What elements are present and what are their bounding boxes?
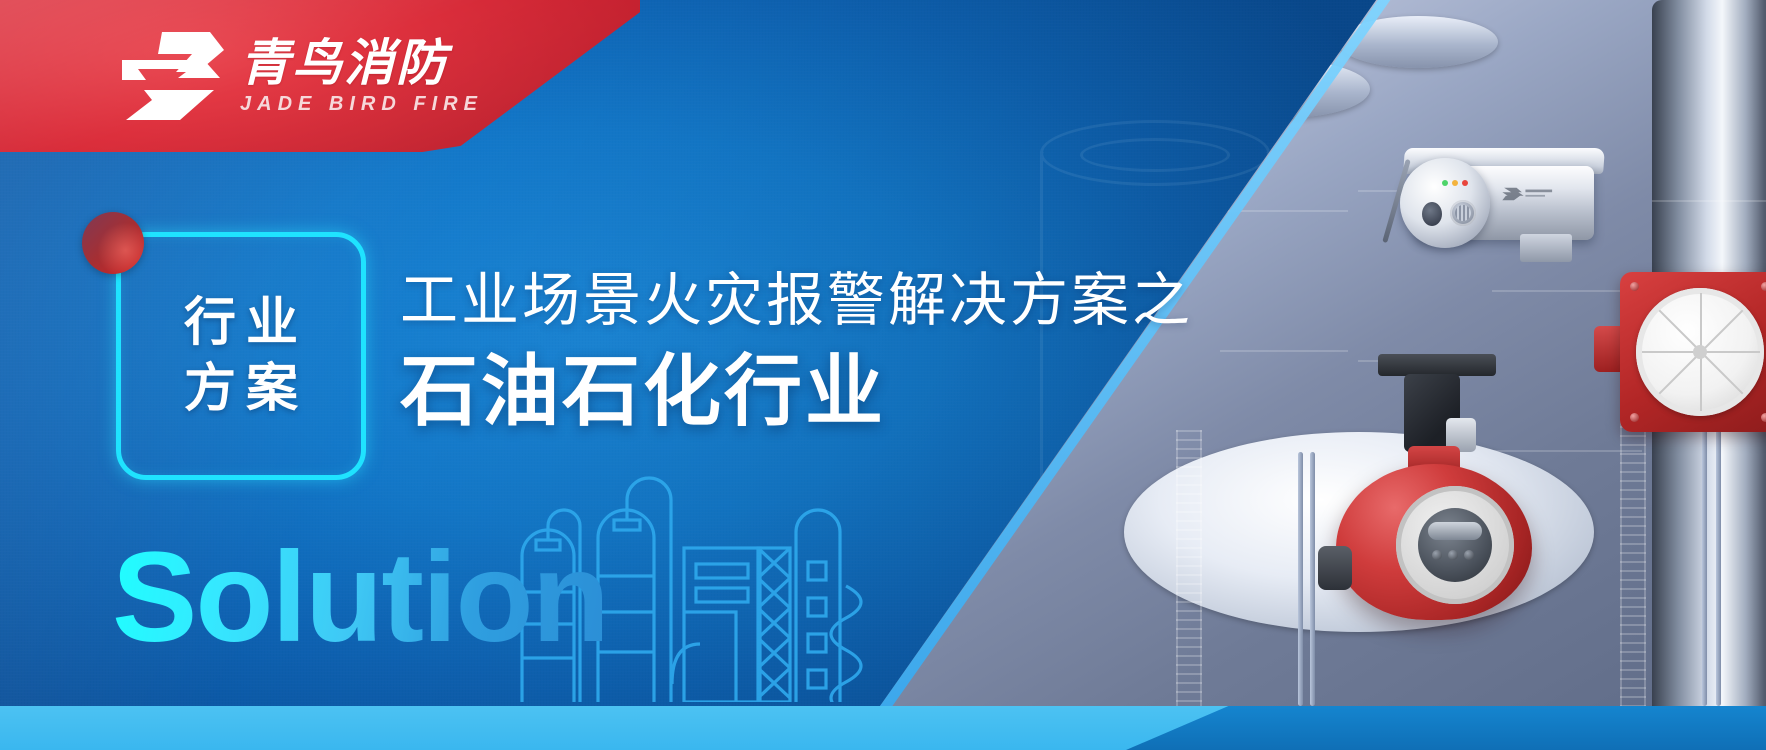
vertical-pipe (1716, 420, 1721, 706)
badge-line-1: 行业 (174, 295, 308, 351)
detector-bracket (1378, 354, 1496, 376)
vertical-pipe (1702, 420, 1707, 706)
jade-bird-chevron-logo-icon (118, 28, 226, 124)
brand-name-cn: 青鸟消防 (240, 38, 483, 88)
subtitle-line: 工业场景火灾报警解决方案之 (400, 272, 1193, 330)
banner-root: 青鸟消防 JADE BIRD FIRE 行业 方案 工业场景火灾报警解决方案之 … (0, 0, 1766, 750)
brand-logo-text: 青鸟消防 JADE BIRD FIRE (240, 38, 483, 114)
detector-optical-window (1418, 508, 1492, 582)
camera-lens (1422, 202, 1442, 226)
badge-accent-dot (82, 212, 144, 274)
camera-status-leds (1442, 180, 1468, 186)
explosion-proof-camera (1370, 130, 1610, 280)
solution-wordmark: Solution (112, 534, 608, 662)
camera-brand-mark (1502, 186, 1556, 202)
camera-mount (1520, 234, 1572, 262)
detector-sensor-disc (1636, 288, 1764, 416)
brand-name-en: JADE BIRD FIRE (240, 94, 483, 114)
brand-logo[interactable]: 青鸟消防 JADE BIRD FIRE (118, 28, 483, 124)
bottom-bar-accent (1126, 706, 1766, 750)
explosion-proof-flame-detector (1300, 360, 1600, 660)
badge-label: 行业 方案 (121, 237, 361, 475)
page-title: 石油石化行业 (400, 352, 886, 430)
industry-solution-badge: 行业 方案 (116, 232, 366, 480)
camera-ir-illuminator (1450, 200, 1476, 226)
camera-front-face (1400, 158, 1490, 248)
point-heat-detector (1620, 272, 1766, 432)
tank-ladder (1176, 430, 1202, 706)
badge-line-2: 方案 (174, 361, 308, 417)
detector-side-knob (1318, 546, 1352, 590)
